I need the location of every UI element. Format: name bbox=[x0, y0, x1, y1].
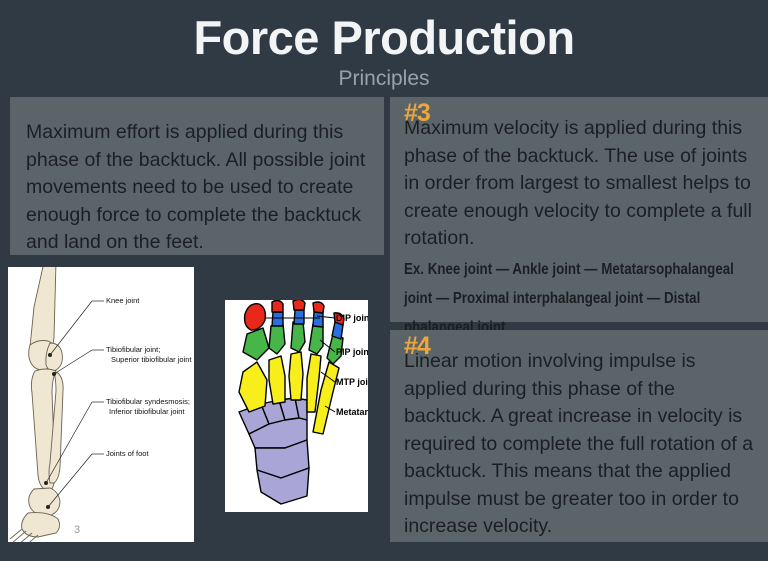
leg-label-inferior-tibiofibular-joint: Inferior tibiofibular joint bbox=[109, 407, 184, 417]
leg-label-tibiofibular-joint: Tibiofibular joint; bbox=[106, 345, 160, 355]
foot-label-dip-joints: DIP joints bbox=[336, 313, 368, 324]
slide-canvas: Force Production Principles Maximum effo… bbox=[0, 0, 768, 561]
text-panel-left: Maximum effort is applied during this ph… bbox=[10, 97, 384, 255]
leg-anatomy-figure: Knee joint Tibiofibular joint; Superior … bbox=[8, 267, 194, 542]
figure-page-number: 3 bbox=[74, 524, 80, 536]
panel-four-text: Linear motion involving impulse is appli… bbox=[404, 348, 754, 541]
foot-anatomy-illustration bbox=[225, 300, 368, 512]
text-panel-principle-3: #3 Maximum velocity is applied during th… bbox=[390, 97, 768, 322]
text-panel-principle-4: #4 Linear motion involving impulse is ap… bbox=[390, 330, 768, 542]
page-subtitle: Principles bbox=[0, 66, 768, 92]
leg-label-superior-tibiofibular-joint: Superior tibiofibular joint bbox=[111, 355, 191, 365]
leg-label-tibiofibular-syndesmosis: Tibiofibular syndesmosis; bbox=[106, 397, 190, 407]
page-title: Force Production bbox=[0, 10, 768, 66]
panel-left-text: Maximum effort is applied during this ph… bbox=[26, 119, 368, 257]
leg-label-knee-joint: Knee joint bbox=[106, 296, 139, 306]
panel-three-text: Maximum velocity is applied during this … bbox=[404, 115, 754, 253]
leg-label-joints-of-foot: Joints of foot bbox=[106, 449, 149, 459]
panel-three-example: Ex. Knee joint — Ankle joint — Metatarso… bbox=[404, 255, 753, 342]
foot-label-metatarsals: Metatarsals bbox=[336, 407, 368, 418]
foot-label-mtp-joints: MTP joints bbox=[336, 377, 368, 388]
foot-anatomy-figure: DIP joints PIP joints MTP joints Metatar… bbox=[225, 300, 368, 512]
foot-label-pip-joints: PIP joints bbox=[336, 347, 368, 358]
